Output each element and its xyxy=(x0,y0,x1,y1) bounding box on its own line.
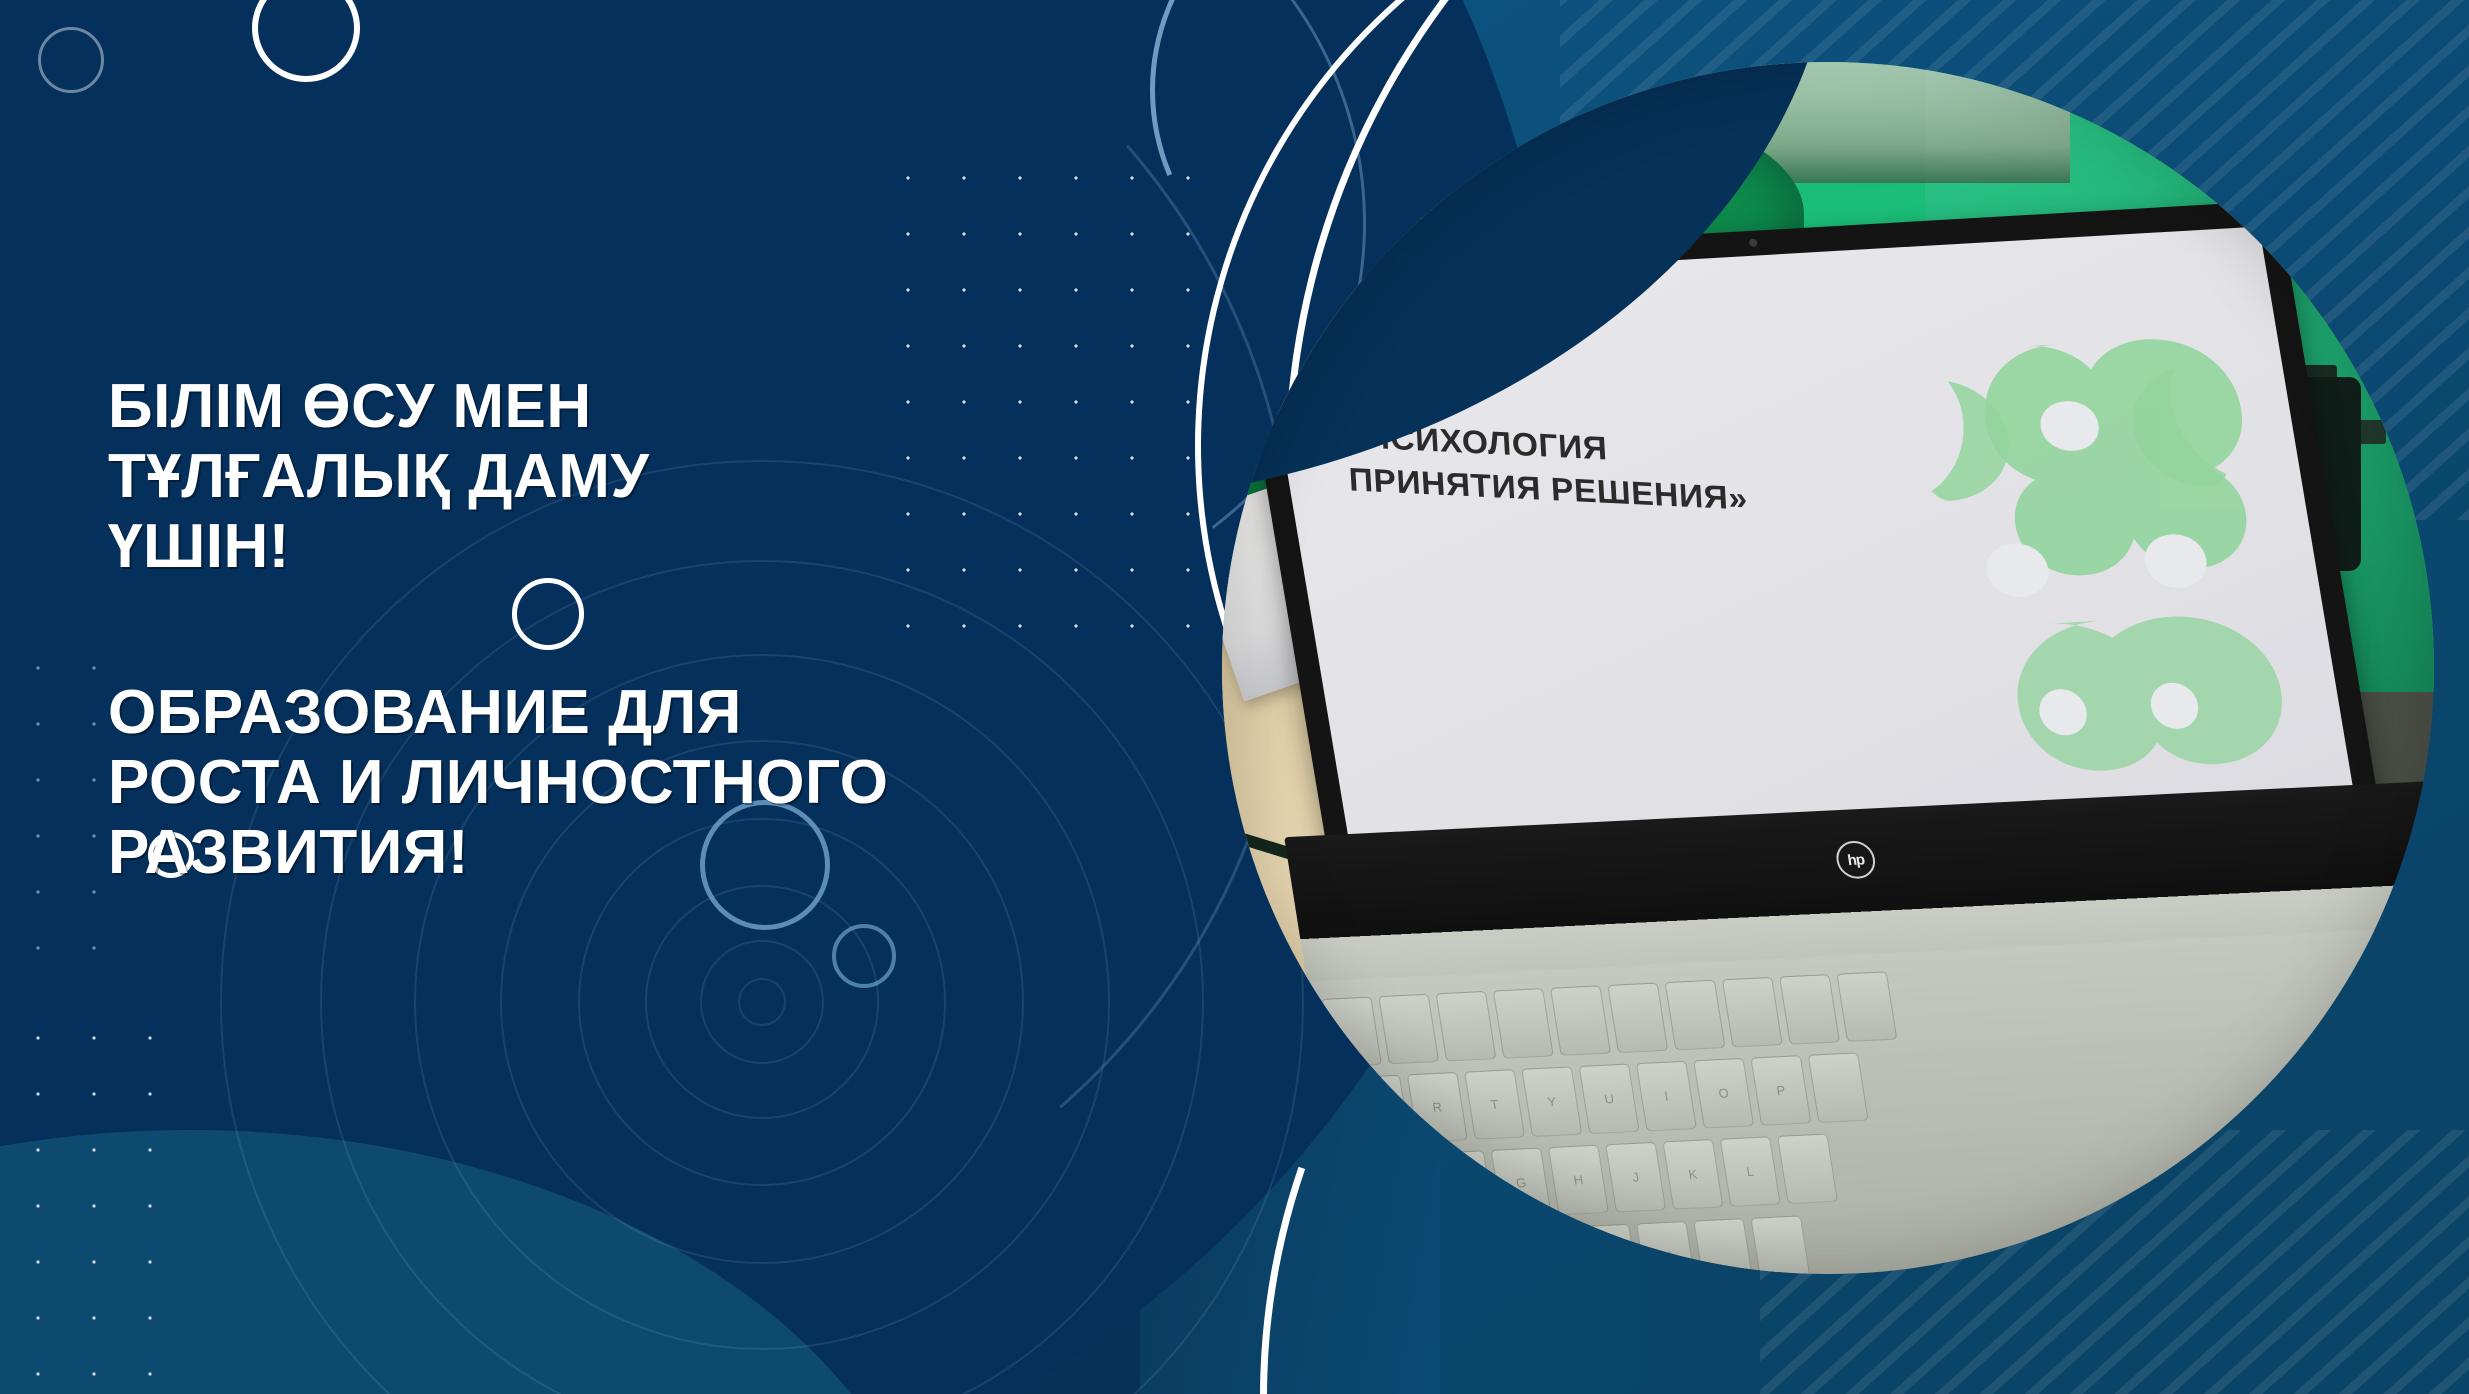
key-a: A xyxy=(1261,1159,1322,1229)
key-p: P xyxy=(1750,1056,1811,1126)
headline-kazakh: БІЛІМ ӨСУ МЕН ТҰЛҒАЛЫҚ ДАМУ ҮШІН! xyxy=(108,372,1128,582)
key xyxy=(1607,983,1668,1053)
key-h: H xyxy=(1548,1145,1609,1215)
key-s: S xyxy=(1319,1157,1380,1227)
key xyxy=(1435,991,1496,1061)
key xyxy=(1321,997,1382,1067)
key-u: U xyxy=(1578,1064,1639,1134)
key-f: F xyxy=(1433,1151,1494,1221)
key-y: Y xyxy=(1521,1067,1582,1137)
key xyxy=(1550,986,1611,1056)
key-g: G xyxy=(1490,1148,1551,1218)
webcam-icon xyxy=(1748,239,1757,247)
classroom-photo: УЧЕБНЫЙ ЦЕНТР «ТОО QazTehna» Внутреннее … xyxy=(1222,62,2434,1274)
key-x: X xyxy=(1349,1235,1410,1274)
key xyxy=(1378,994,1439,1064)
headline-russian: ОБРАЗОВАНИЕ ДЛЯ РОСТА И ЛИЧНОСТНОГО РАЗВ… xyxy=(108,678,1128,888)
key xyxy=(1222,1002,1267,1072)
key xyxy=(1721,977,1782,1047)
key-b: B xyxy=(1521,1227,1582,1274)
key-c: C xyxy=(1407,1232,1468,1274)
key xyxy=(1779,974,1840,1044)
headline-block: БІЛІМ ӨСУ МЕН ТҰЛҒАЛЫҚ ДАМУ ҮШІН! ОБРАЗО… xyxy=(108,372,1128,888)
key xyxy=(1492,988,1553,1058)
key xyxy=(1693,1218,1754,1274)
key xyxy=(1836,972,1897,1042)
key-o: O xyxy=(1693,1058,1754,1128)
key-n: N xyxy=(1578,1224,1639,1274)
key-r: R xyxy=(1407,1072,1468,1142)
key xyxy=(1664,980,1725,1050)
key xyxy=(1807,1053,1868,1123)
key-i: I xyxy=(1636,1061,1697,1131)
key-l: L xyxy=(1719,1137,1780,1207)
key-m: M xyxy=(1636,1221,1697,1274)
key-w: W xyxy=(1292,1078,1353,1148)
key-e: E xyxy=(1349,1075,1410,1145)
key-t: T xyxy=(1464,1070,1525,1140)
key-q: Q xyxy=(1235,1081,1296,1151)
key-v: V xyxy=(1464,1229,1525,1274)
key xyxy=(1263,1000,1324,1070)
promotional-banner: БІЛІМ ӨСУ МЕН ТҰЛҒАЛЫҚ ДАМУ ҮШІН! ОБРАЗО… xyxy=(0,0,2469,1394)
key xyxy=(1750,1215,1811,1274)
outline-circle-top-left xyxy=(38,27,104,93)
key-d: D xyxy=(1376,1154,1437,1224)
photo-circle: УЧЕБНЫЙ ЦЕНТР «ТОО QazTehna» Внутреннее … xyxy=(1222,62,2434,1274)
key-j: J xyxy=(1605,1143,1666,1213)
key-z: Z xyxy=(1292,1238,1353,1274)
key-k: K xyxy=(1662,1140,1723,1210)
key xyxy=(1777,1134,1838,1204)
kazakh-ornament-icon xyxy=(1783,259,2353,820)
